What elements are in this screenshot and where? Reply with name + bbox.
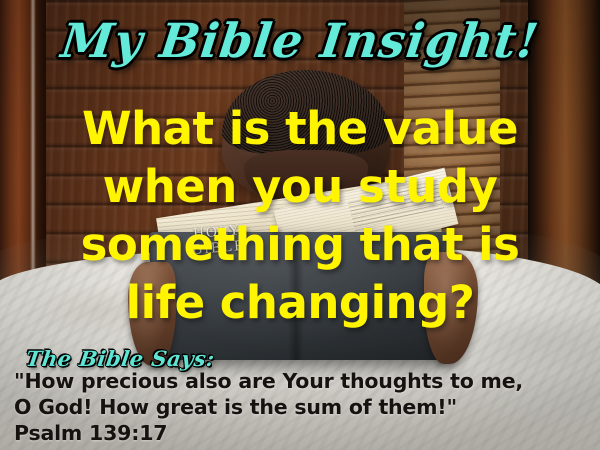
- headline-line-4: life changing?: [8, 274, 592, 332]
- scripture-text: "How precious also are Your thoughts to …: [14, 368, 592, 446]
- scripture-reference: Psalm 139:17: [14, 420, 592, 446]
- headline-line-2: when you study: [8, 158, 592, 216]
- brand-title: My Bible Insight!: [0, 16, 600, 68]
- text-overlay: My Bible Insight! What is the value when…: [0, 0, 600, 450]
- headline-question: What is the value when you study somethi…: [8, 100, 592, 332]
- headline-line-1: What is the value: [8, 100, 592, 158]
- scripture-line-2: O God! How great is the sum of them!": [14, 394, 592, 420]
- scripture-line-1: "How precious also are Your thoughts to …: [14, 368, 592, 394]
- headline-line-3: something that is: [8, 216, 592, 274]
- scripture-graphic-canvas: HOLY BIBLE My Bible Insight! What is the…: [0, 0, 600, 450]
